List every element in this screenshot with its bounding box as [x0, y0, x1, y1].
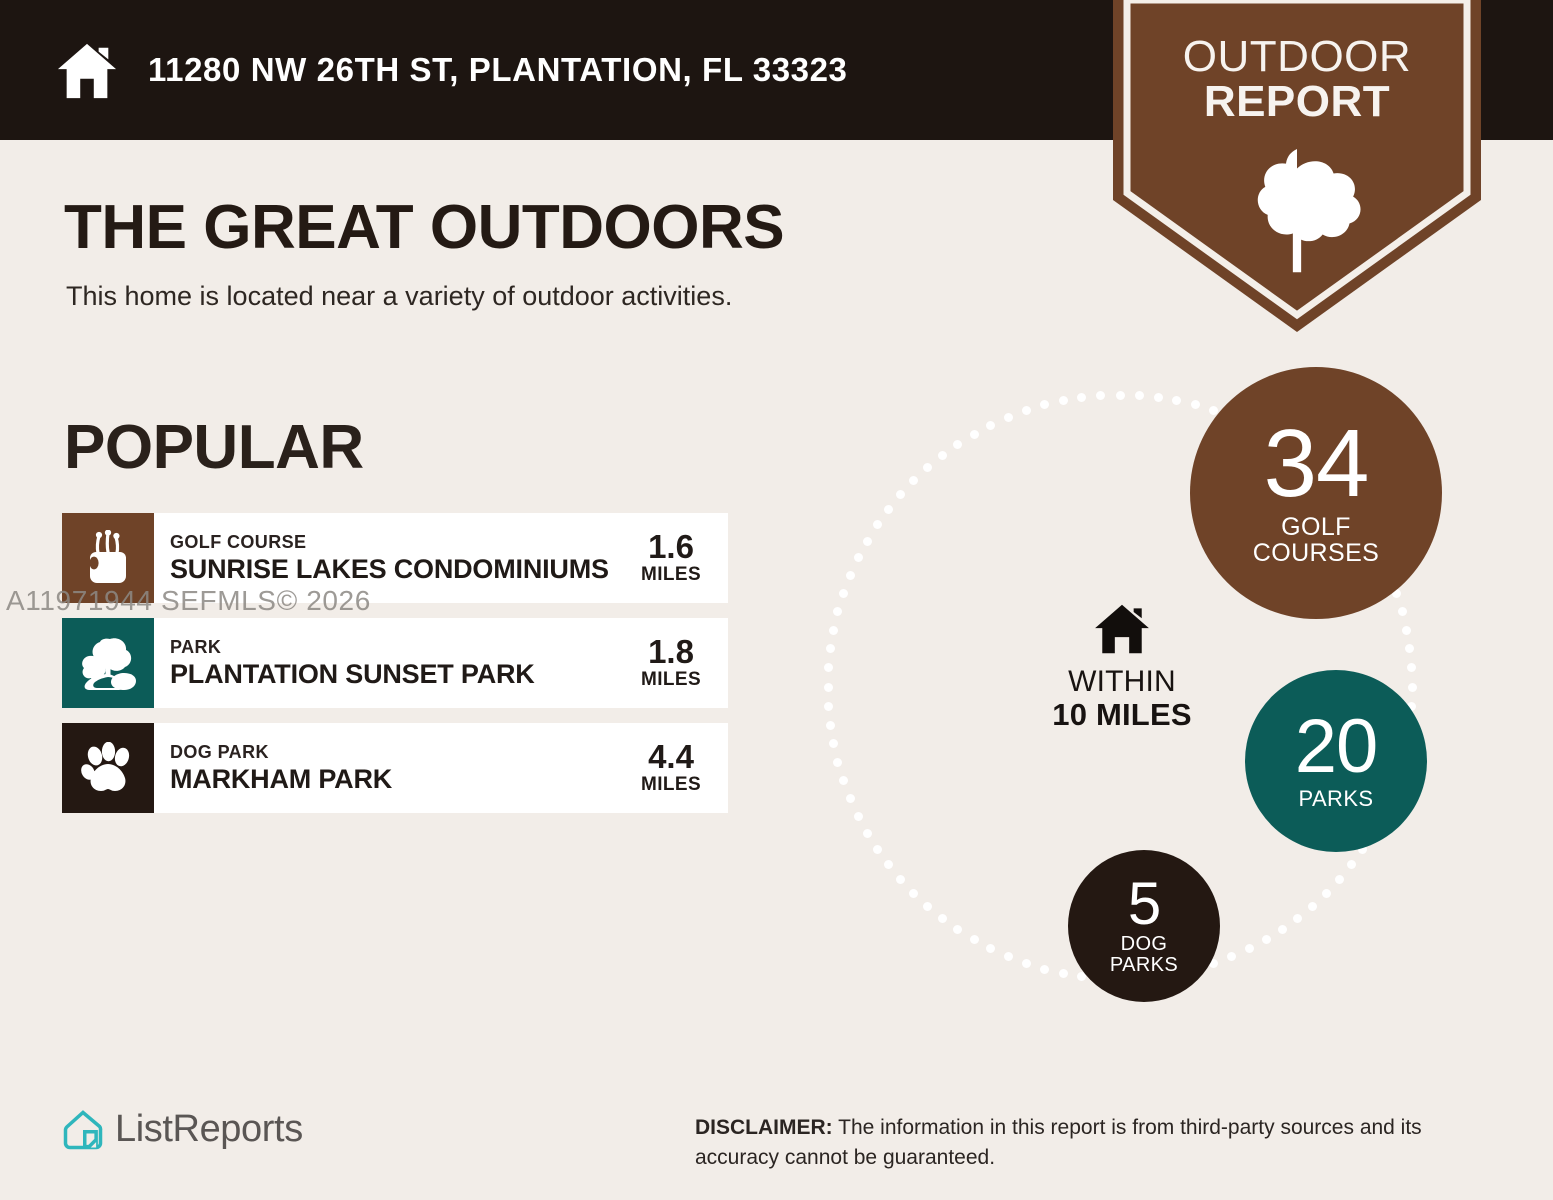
poi-body: GOLF COURSE SUNRISE LAKES CONDOMINIUMS 1… — [154, 513, 728, 603]
home-icon — [56, 40, 118, 102]
listreports-logo-text: ListReports — [115, 1108, 303, 1151]
ring-dot — [839, 776, 848, 785]
badge-shape — [1113, 0, 1481, 332]
ring-dot — [863, 537, 872, 546]
ring-dot — [826, 644, 835, 653]
ring-dot — [1227, 952, 1236, 961]
ring-dot — [953, 925, 962, 934]
poi-distance: 4.4 MILES — [628, 740, 728, 796]
poi-labels: DOG PARK MARKHAM PARK — [170, 741, 628, 794]
ring-dot — [1059, 396, 1068, 405]
poi-category: GOLF COURSE — [170, 531, 628, 554]
poi-distance-unit: MILES — [628, 564, 714, 586]
within-10-miles-infographic: WITHIN 10 MILES 34 GOLF COURSES 20 PARKS… — [800, 355, 1500, 1055]
poi-name: MARKHAM PARK — [170, 764, 628, 795]
ring-dot — [986, 421, 995, 430]
poi-body: PARK PLANTATION SUNSET PARK 1.8 MILES — [154, 618, 728, 708]
ring-dot — [1004, 952, 1013, 961]
ring-dot — [923, 902, 932, 911]
ring-dot — [938, 451, 947, 460]
ring-dot — [1347, 860, 1356, 869]
stat-value: 20 — [1295, 712, 1378, 782]
ring-dot — [1077, 393, 1086, 402]
poi-name: SUNRISE LAKES CONDOMINIUMS — [170, 554, 628, 585]
ring-dot — [896, 875, 905, 884]
ring-dot — [1172, 396, 1181, 405]
poi-body: DOG PARK MARKHAM PARK 4.4 MILES — [154, 723, 728, 813]
park-trees-icon — [80, 636, 136, 690]
ring-dot — [1040, 965, 1049, 974]
ring-dot — [839, 589, 848, 598]
stat-label-line-2: PARKS — [1110, 954, 1178, 976]
stat-label: PARKS — [1299, 788, 1374, 811]
ring-dot — [1004, 413, 1013, 422]
disclaimer-label: DISCLAIMER: — [695, 1116, 833, 1139]
center-marker: WITHIN 10 MILES — [1022, 603, 1222, 732]
poi-icon-tile — [62, 618, 154, 708]
ring-dot — [909, 889, 918, 898]
ring-dot — [1245, 944, 1254, 953]
center-within-label: WITHIN — [1022, 666, 1222, 698]
poi-distance-unit: MILES — [628, 669, 714, 691]
stat-value: 5 — [1128, 876, 1160, 931]
poi-distance: 1.6 MILES — [628, 530, 728, 586]
outdoor-report-badge: OUTDOOR REPORT — [1113, 0, 1481, 332]
poi-distance-value: 1.6 — [628, 530, 714, 564]
poi-distance-unit: MILES — [628, 774, 714, 796]
ring-dot — [923, 463, 932, 472]
poi-icon-tile — [62, 513, 154, 603]
ring-dot — [1135, 391, 1144, 400]
ring-dot — [854, 812, 863, 821]
poi-distance-value: 1.8 — [628, 635, 714, 669]
home-icon — [1093, 603, 1151, 655]
stat-circle-dog-parks[interactable]: 5 DOG PARKS — [1068, 850, 1220, 1002]
ring-dot — [826, 721, 835, 730]
poi-labels: GOLF COURSE SUNRISE LAKES CONDOMINIUMS — [170, 531, 628, 584]
stat-label-line-1: DOG — [1121, 933, 1168, 955]
golf-bag-icon — [83, 530, 133, 586]
ring-dot — [909, 476, 918, 485]
poi-distance-value: 4.4 — [628, 740, 714, 774]
ring-dot — [1402, 626, 1411, 635]
list-item[interactable]: PARK PLANTATION SUNSET PARK 1.8 MILES — [62, 618, 728, 708]
section-heading-popular: POPULAR — [64, 412, 364, 483]
listreports-logo[interactable]: ListReports — [62, 1108, 303, 1151]
ring-dot — [1191, 400, 1200, 409]
list-item[interactable]: DOG PARK MARKHAM PARK 4.4 MILES — [62, 723, 728, 813]
ring-dot — [1096, 391, 1105, 400]
ring-dot — [1278, 925, 1287, 934]
popular-places-list: GOLF COURSE SUNRISE LAKES CONDOMINIUMS 1… — [62, 513, 728, 828]
ring-dot — [1407, 663, 1416, 672]
ring-dot — [1022, 959, 1031, 968]
ring-dot — [884, 505, 893, 514]
ring-dot — [1405, 644, 1414, 653]
paw-print-icon — [81, 742, 135, 794]
ring-dot — [873, 845, 882, 854]
ring-dot — [1308, 902, 1317, 911]
ring-dot — [1408, 683, 1417, 692]
stat-circle-golf-courses[interactable]: 34 GOLF COURSES — [1190, 367, 1442, 619]
ring-dot — [884, 860, 893, 869]
ring-dot — [896, 490, 905, 499]
poi-icon-tile — [62, 723, 154, 813]
ring-dot — [1154, 393, 1163, 402]
ring-dot — [1293, 914, 1302, 923]
ring-dot — [846, 571, 855, 580]
stat-label: GOLF COURSES — [1253, 514, 1379, 566]
ring-dot — [824, 663, 833, 672]
center-miles-label: 10 MILES — [1022, 698, 1222, 731]
list-item[interactable]: GOLF COURSE SUNRISE LAKES CONDOMINIUMS 1… — [62, 513, 728, 603]
listreports-house-icon — [62, 1109, 104, 1151]
poi-labels: PARK PLANTATION SUNSET PARK — [170, 636, 628, 689]
ring-dot — [1398, 607, 1407, 616]
outdoor-report-page: 11280 NW 26TH ST, PLANTATION, FL 33323 O… — [0, 0, 1553, 1200]
poi-name: PLANTATION SUNSET PARK — [170, 659, 628, 690]
ring-dot — [829, 626, 838, 635]
stat-label: DOG PARKS — [1110, 934, 1178, 976]
disclaimer: DISCLAIMER: The information in this repo… — [695, 1113, 1495, 1173]
ring-dot — [873, 520, 882, 529]
ring-dot — [953, 440, 962, 449]
ring-dot — [1116, 391, 1125, 400]
ring-dot — [970, 430, 979, 439]
ring-dot — [1262, 935, 1271, 944]
page-subtitle: This home is located near a variety of o… — [66, 281, 732, 312]
ring-dot — [1059, 969, 1068, 978]
ring-dot — [833, 758, 842, 767]
page-title: THE GREAT OUTDOORS — [64, 192, 784, 263]
ring-dot — [824, 683, 833, 692]
poi-category: PARK — [170, 636, 628, 659]
poi-distance: 1.8 MILES — [628, 635, 728, 691]
ring-dot — [1335, 875, 1344, 884]
stat-label-line-2: COURSES — [1253, 539, 1379, 567]
ring-dot — [986, 944, 995, 953]
stat-label-line-1: GOLF — [1281, 513, 1351, 541]
ring-dot — [824, 702, 833, 711]
ring-dot — [938, 914, 947, 923]
ring-dot — [829, 739, 838, 748]
ring-dot — [846, 794, 855, 803]
ring-dot — [1040, 400, 1049, 409]
ring-dot — [854, 553, 863, 562]
stat-circle-parks[interactable]: 20 PARKS — [1245, 670, 1427, 852]
stat-value: 34 — [1264, 420, 1369, 508]
ring-dot — [833, 607, 842, 616]
ring-dot — [970, 935, 979, 944]
poi-category: DOG PARK — [170, 741, 628, 764]
ring-dot — [1022, 406, 1031, 415]
ring-dot — [863, 829, 872, 838]
property-address: 11280 NW 26TH ST, PLANTATION, FL 33323 — [148, 51, 848, 89]
ring-dot — [1322, 889, 1331, 898]
